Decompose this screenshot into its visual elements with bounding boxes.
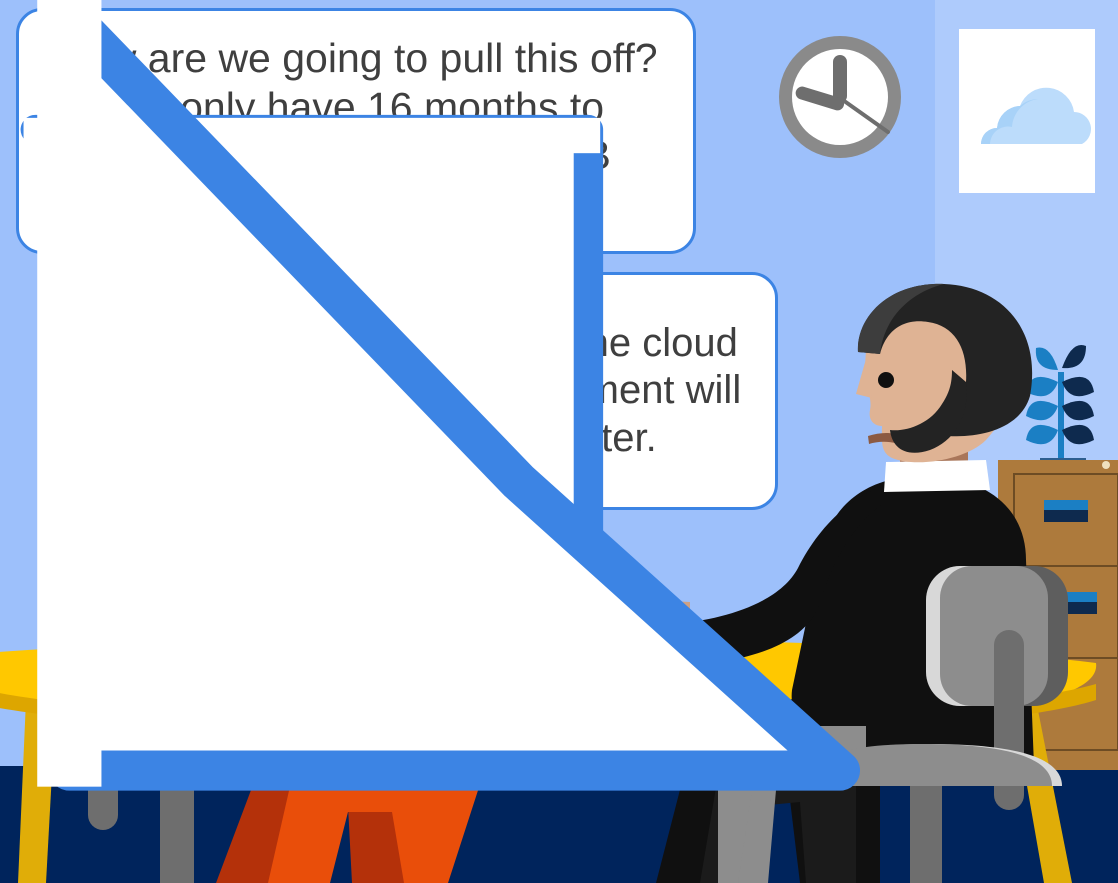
illustration-canvas: How are we going to pull this off? We on… xyxy=(0,0,1118,883)
speech-bubble-tail-right xyxy=(0,0,1118,883)
